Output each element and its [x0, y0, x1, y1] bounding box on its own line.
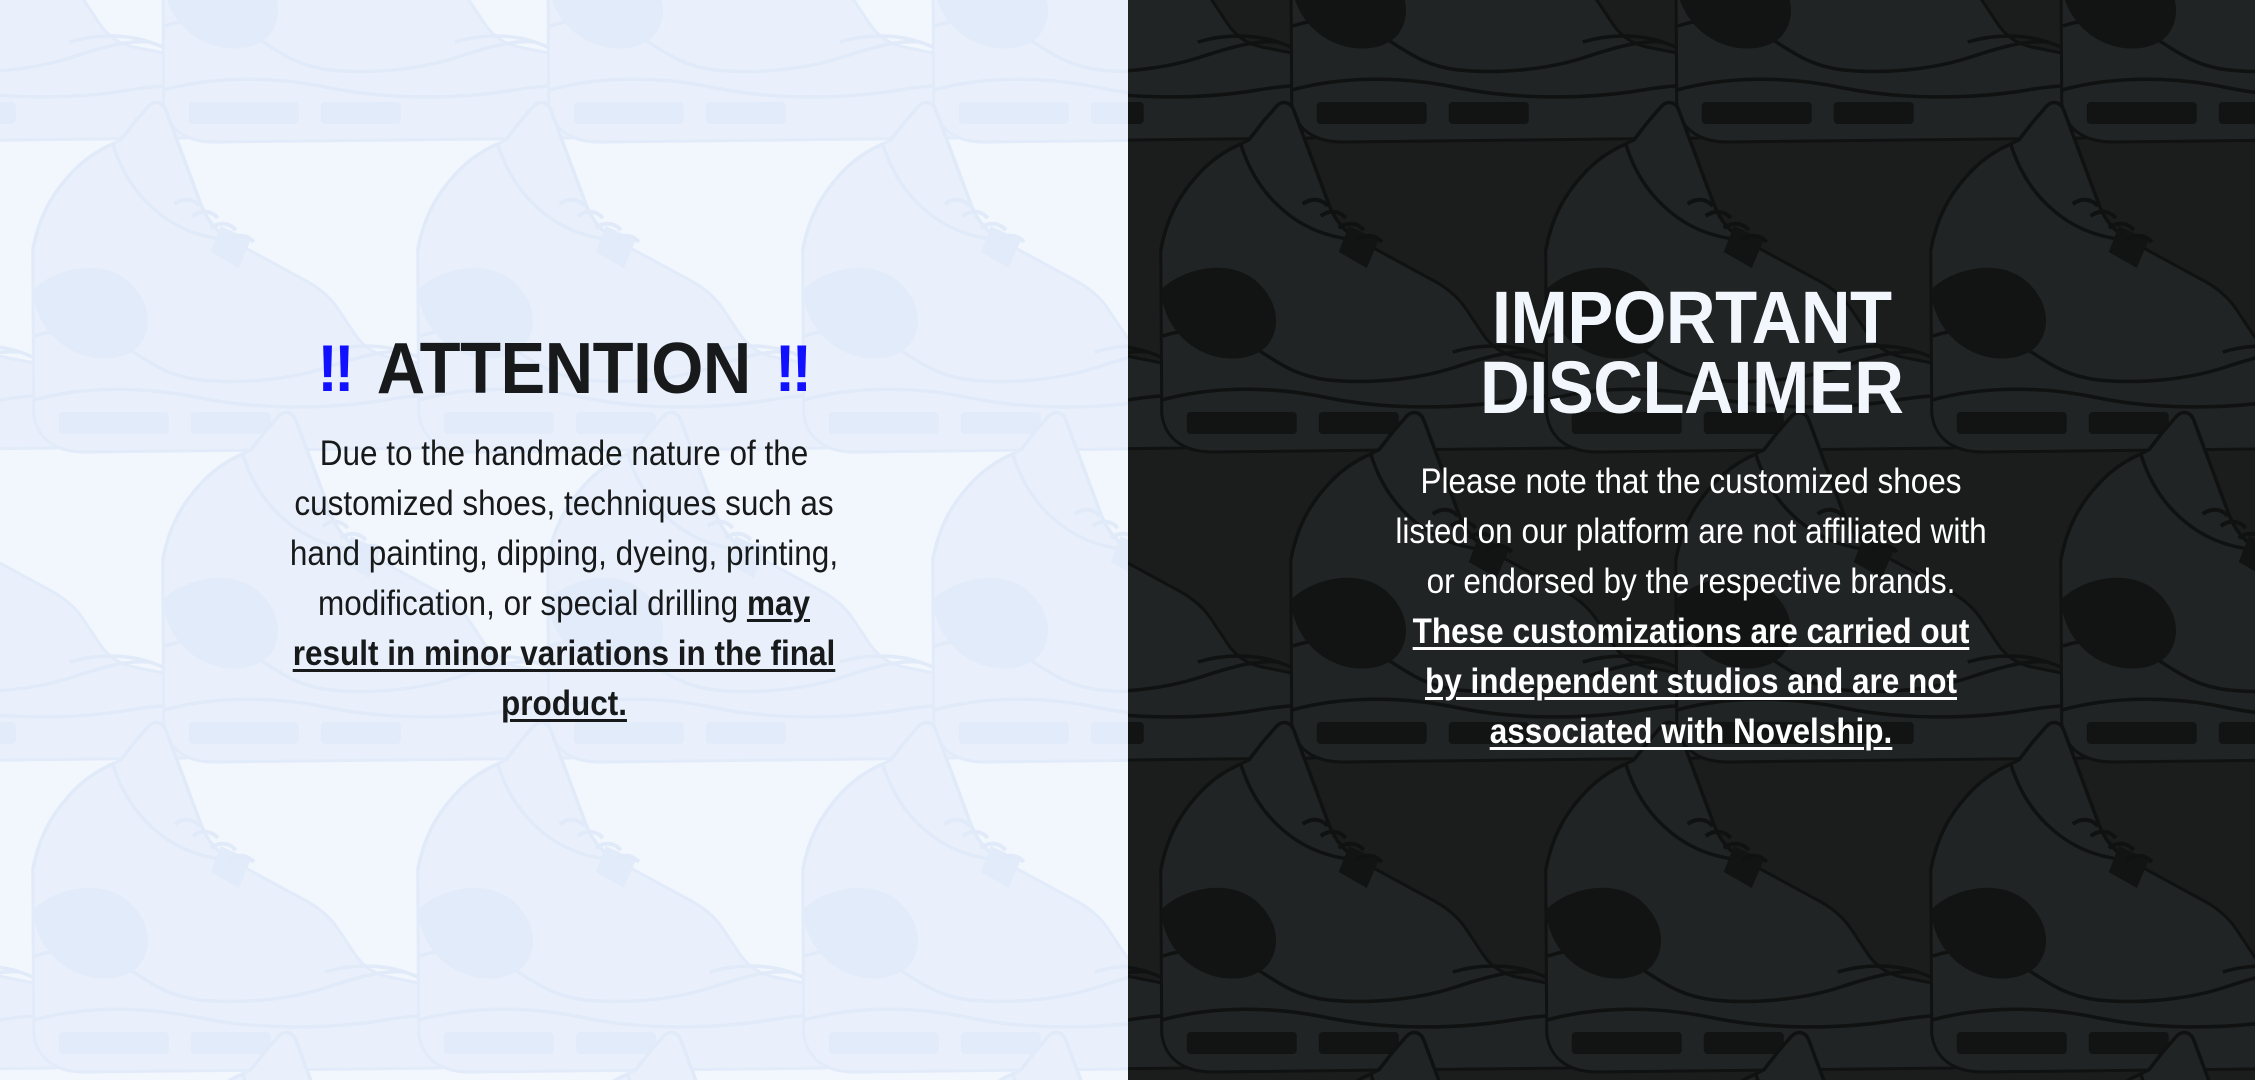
disclaimer-heading-line-1: IMPORTANT [1306, 283, 2076, 353]
double-exclamation-left-icon: ‼ [317, 337, 352, 400]
disclaimer-heading-line-2: DISCLAIMER [1306, 353, 2076, 423]
attention-heading: ‼ATTENTION‼ [179, 335, 949, 403]
attention-panel: ‼ATTENTION‼ Due to the handmade nature o… [0, 0, 1128, 1080]
attention-heading-text: ATTENTION [377, 329, 751, 409]
attention-content: ‼ATTENTION‼ Due to the handmade nature o… [0, 335, 1128, 730]
double-exclamation-right-icon: ‼ [775, 337, 810, 400]
disclaimer-body: Please note that the customized shoes li… [1394, 457, 1988, 757]
attention-body: Due to the handmade nature of the custom… [276, 429, 852, 729]
disclaimer-body-emphasis: These customizations are carried out by … [1413, 612, 1970, 751]
disclaimer-body-normal: Please note that the customized shoes li… [1396, 462, 1987, 601]
disclaimer-content: IMPORTANT DISCLAIMER Please note that th… [1128, 283, 2255, 758]
disclaimer-heading: IMPORTANT DISCLAIMER [1306, 283, 2076, 424]
disclaimer-banner: ‼ATTENTION‼ Due to the handmade nature o… [0, 0, 2255, 1080]
disclaimer-panel: IMPORTANT DISCLAIMER Please note that th… [1128, 0, 2255, 1080]
